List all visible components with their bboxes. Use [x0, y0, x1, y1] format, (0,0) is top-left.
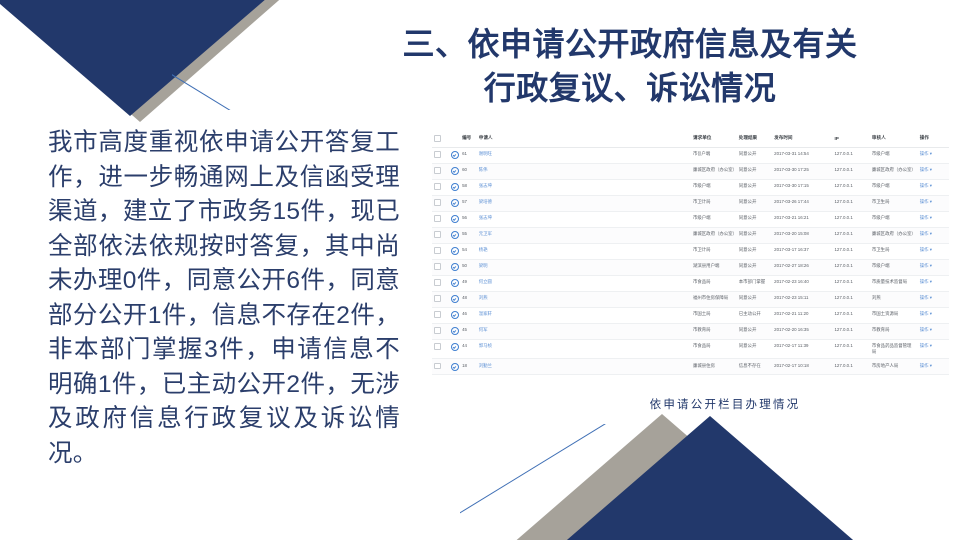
row-checkbox-cell[interactable]: [432, 291, 449, 307]
check-circle-icon: [451, 363, 459, 371]
row-ip: 127.0.0.1: [832, 211, 869, 227]
row-operation[interactable]: 操作 ▾: [918, 291, 949, 307]
row-result: 同意公开: [737, 211, 772, 227]
row-request-unit: 市级户端: [691, 179, 737, 195]
table-row[interactable]: 18刘勤兰廉城县住房信息不存在2017-02-17 10:18127.0.0.1…: [432, 359, 949, 375]
checkbox-icon[interactable]: [434, 135, 441, 142]
bottom-right-accent-line: [460, 424, 630, 534]
header-auditor[interactable]: 审核人: [870, 131, 918, 147]
row-request-unit: 市용户端: [691, 147, 737, 163]
checkbox-icon[interactable]: [434, 247, 441, 254]
row-operation[interactable]: 操作 ▾: [918, 359, 949, 375]
row-operation[interactable]: 操作 ▾: [918, 163, 949, 179]
disclosure-table-body: 61谢明旺市용户端同意公开2017-03-31 14:54127.0.0.1市级…: [432, 147, 949, 375]
row-result: 同意公开: [737, 291, 772, 307]
header-spacer: [525, 131, 691, 147]
row-status-cell: [449, 163, 460, 179]
row-request-unit: 市级户端: [691, 211, 737, 227]
row-applicant[interactable]: 梁培德: [477, 195, 525, 211]
checkbox-icon[interactable]: [434, 279, 441, 286]
row-auditor: 廉城区政府（办公室）: [870, 163, 918, 179]
row-id: 46: [460, 307, 477, 323]
row-result: 已主动公开: [737, 307, 772, 323]
checkbox-icon[interactable]: [434, 343, 441, 350]
row-request-unit: 市食品局: [691, 339, 737, 359]
top-left-gray-band: [0, 0, 286, 122]
row-id: 49: [460, 275, 477, 291]
row-publish-time: 2017-03-30 17:25: [772, 163, 832, 179]
checkbox-icon[interactable]: [434, 199, 441, 206]
row-applicant[interactable]: 元卫军: [477, 227, 525, 243]
row-result: 同意公开: [737, 323, 772, 339]
row-publish-time: 2017-03-17 16:37: [772, 243, 832, 259]
row-status-cell: [449, 259, 460, 275]
row-id: 55: [460, 227, 477, 243]
row-result: 同意公开: [737, 147, 772, 163]
row-applicant[interactable]: 郭马桢: [477, 339, 525, 359]
row-ip: 127.0.0.1: [832, 339, 869, 359]
checkbox-icon[interactable]: [434, 363, 441, 370]
row-spacer: [525, 179, 691, 195]
bottom-right-navy-triangle: [560, 416, 860, 540]
table-row[interactable]: 57梁培德市卫计局同意公开2017-03-26 17:44127.0.0.1市卫…: [432, 195, 949, 211]
row-auditor: 市食品药品监督管理局: [870, 339, 918, 359]
table-row[interactable]: 60陈伟廉城区政府（办公室）同意公开2017-03-30 17:25127.0.…: [432, 163, 949, 179]
check-circle-icon: [451, 199, 459, 207]
table-row[interactable]: 61谢明旺市용户端同意公开2017-03-31 14:54127.0.0.1市级…: [432, 147, 949, 163]
row-operation[interactable]: 操作 ▾: [918, 227, 949, 243]
row-checkbox-cell[interactable]: [432, 211, 449, 227]
row-id: 50: [460, 259, 477, 275]
row-ip: 127.0.0.1: [832, 147, 869, 163]
table-row[interactable]: 56张志坤市级户端同意公开2017-03-21 16:21127.0.0.1市级…: [432, 211, 949, 227]
row-publish-time: 2017-02-23 16:40: [772, 275, 832, 291]
row-request-unit: 市国土局: [691, 307, 737, 323]
row-status-cell: [449, 359, 460, 375]
checkbox-icon[interactable]: [434, 263, 441, 270]
row-ip: 127.0.0.1: [832, 259, 869, 275]
row-applicant[interactable]: 温家轩: [477, 307, 525, 323]
table-row[interactable]: 46温家轩市国土局已主动公开2017-02-21 11:20127.0.0.1市…: [432, 307, 949, 323]
row-publish-time: 2017-03-21 16:21: [772, 211, 832, 227]
row-operation[interactable]: 操作 ▾: [918, 275, 949, 291]
table-row[interactable]: 45何军市教育局同意公开2017-02-20 16:35127.0.0.1市教育…: [432, 323, 949, 339]
table-row[interactable]: 44郭马桢市食品局同意公开2017-02-17 11:39127.0.0.1市食…: [432, 339, 949, 359]
row-request-unit: 市教育局: [691, 323, 737, 339]
row-operation[interactable]: 操作 ▾: [918, 259, 949, 275]
row-status-cell: [449, 243, 460, 259]
row-status-cell: [449, 147, 460, 163]
row-status-cell: [449, 339, 460, 359]
row-checkbox-cell[interactable]: [432, 307, 449, 323]
check-circle-icon: [451, 279, 459, 287]
row-checkbox-cell[interactable]: [432, 179, 449, 195]
row-applicant[interactable]: 何立圆: [477, 275, 525, 291]
header-status: [449, 131, 460, 147]
row-spacer: [525, 227, 691, 243]
check-circle-icon: [451, 231, 459, 239]
header-request-unit[interactable]: 请求单位: [691, 131, 737, 147]
row-publish-time: 2017-02-21 11:20: [772, 307, 832, 323]
row-auditor: 市级户端: [870, 211, 918, 227]
table-row[interactable]: 55元卫军廉城区政府（办公室）同意公开2017-03-20 15:08127.0…: [432, 227, 949, 243]
row-ip: 127.0.0.1: [832, 307, 869, 323]
row-auditor: 市级户端: [870, 179, 918, 195]
row-result: 同意公开: [737, 195, 772, 211]
row-request-unit: 福州市住房保障局: [691, 291, 737, 307]
row-ip: 127.0.0.1: [832, 291, 869, 307]
row-request-unit: 市卫计局: [691, 243, 737, 259]
row-id: 61: [460, 147, 477, 163]
row-result: 同意公开: [737, 163, 772, 179]
row-result: 信息不存在: [737, 359, 772, 375]
row-id: 58: [460, 179, 477, 195]
row-id: 57: [460, 195, 477, 211]
row-status-cell: [449, 275, 460, 291]
slide-title: 三、依申请公开政府信息及有关 行政复议、诉讼情况: [330, 22, 930, 110]
header-applicant[interactable]: 申请人: [477, 131, 525, 147]
row-publish-time: 2017-02-17 10:18: [772, 359, 832, 375]
row-spacer: [525, 291, 691, 307]
row-ip: 127.0.0.1: [832, 179, 869, 195]
row-auditor: 市国土资源局: [870, 307, 918, 323]
row-id: 60: [460, 163, 477, 179]
row-request-unit: 湖滨县用户端: [691, 259, 737, 275]
row-publish-time: 2017-02-20 16:35: [772, 323, 832, 339]
table-row[interactable]: 50梁明湖滨县用户端同意公开2017-02-27 18:26127.0.0.1市…: [432, 259, 949, 275]
row-publish-time: 2017-03-31 14:54: [772, 147, 832, 163]
row-request-unit: 廉城区政府（办公室）: [691, 163, 737, 179]
row-checkbox-cell[interactable]: [432, 323, 449, 339]
row-spacer: [525, 275, 691, 291]
row-ip: 127.0.0.1: [832, 243, 869, 259]
row-auditor: 市房地产人局: [870, 359, 918, 375]
check-circle-icon: [451, 327, 459, 335]
table-row[interactable]: 49何立圆市食品局本市部门掌握2017-02-23 16:40127.0.0.1…: [432, 275, 949, 291]
check-circle-icon: [451, 183, 459, 191]
row-checkbox-cell[interactable]: [432, 147, 449, 163]
check-circle-icon: [451, 343, 459, 351]
row-applicant[interactable]: 杨艳: [477, 243, 525, 259]
row-operation[interactable]: 操作 ▾: [918, 307, 949, 323]
slide-body-text: 我市高度重视依申请公开答复工作，进一步畅通网上及信函受理渠道，建立了市政务15件…: [48, 126, 400, 471]
check-circle-icon: [451, 263, 459, 271]
checkbox-icon[interactable]: [434, 327, 441, 334]
row-ip: 127.0.0.1: [832, 275, 869, 291]
checkbox-icon[interactable]: [434, 167, 441, 174]
check-circle-icon: [451, 295, 459, 303]
checkbox-icon[interactable]: [434, 151, 441, 158]
row-result: 同意公开: [737, 179, 772, 195]
header-select-all[interactable]: [432, 131, 449, 147]
row-spacer: [525, 359, 691, 375]
row-spacer: [525, 211, 691, 227]
row-operation[interactable]: 操作 ▾: [918, 179, 949, 195]
table-row[interactable]: 58张志坤市级户端同意公开2017-03-30 17:15127.0.0.1市级…: [432, 179, 949, 195]
header-id[interactable]: 编号: [460, 131, 477, 147]
row-checkbox-cell[interactable]: [432, 275, 449, 291]
row-publish-time: 2017-03-26 17:44: [772, 195, 832, 211]
row-request-unit: 市食品局: [691, 275, 737, 291]
row-status-cell: [449, 195, 460, 211]
row-id: 54: [460, 243, 477, 259]
row-checkbox-cell[interactable]: [432, 163, 449, 179]
row-publish-time: 2017-03-20 15:08: [772, 227, 832, 243]
row-checkbox-cell[interactable]: [432, 195, 449, 211]
checkbox-icon[interactable]: [434, 183, 441, 190]
row-checkbox-cell[interactable]: [432, 243, 449, 259]
row-spacer: [525, 195, 691, 211]
row-publish-time: 2017-02-27 18:26: [772, 259, 832, 275]
row-applicant[interactable]: 谢明旺: [477, 147, 525, 163]
row-operation[interactable]: 操作 ▾: [918, 339, 949, 359]
row-result: 本市部门掌握: [737, 275, 772, 291]
row-id: 48: [460, 291, 477, 307]
row-status-cell: [449, 323, 460, 339]
row-applicant[interactable]: 张志坤: [477, 179, 525, 195]
checkbox-icon[interactable]: [434, 215, 441, 222]
top-left-accent-line: [172, 14, 332, 110]
row-id: 56: [460, 211, 477, 227]
row-operation[interactable]: 操作 ▾: [918, 243, 949, 259]
table-row[interactable]: 54杨艳市卫计局同意公开2017-03-17 16:37127.0.0.1市卫生…: [432, 243, 949, 259]
header-ip[interactable]: IP: [832, 131, 869, 147]
row-checkbox-cell[interactable]: [432, 359, 449, 375]
table-row[interactable]: 48刘燕福州市住房保障局同意公开2017-02-23 15:11127.0.0.…: [432, 291, 949, 307]
row-auditor: 刘燕: [870, 291, 918, 307]
checkbox-icon[interactable]: [434, 231, 441, 238]
row-id: 45: [460, 323, 477, 339]
row-ip: 127.0.0.1: [832, 227, 869, 243]
row-spacer: [525, 307, 691, 323]
check-circle-icon: [451, 247, 459, 255]
checkbox-icon[interactable]: [434, 311, 441, 318]
check-circle-icon: [451, 167, 459, 175]
check-circle-icon: [451, 151, 459, 159]
disclosure-table: 编号 申请人 请求单位 处理结果 发布时间 IP 审核人 操作 61谢明旺市용户…: [432, 131, 949, 375]
row-status-cell: [449, 211, 460, 227]
row-ip: 127.0.0.1: [832, 195, 869, 211]
row-spacer: [525, 147, 691, 163]
row-spacer: [525, 323, 691, 339]
row-auditor: 市教育局: [870, 323, 918, 339]
row-status-cell: [449, 307, 460, 323]
row-publish-time: 2017-02-17 11:39: [772, 339, 832, 359]
row-operation[interactable]: 操作 ▾: [918, 195, 949, 211]
row-applicant[interactable]: 张志坤: [477, 211, 525, 227]
table-header-row: 编号 申请人 请求单位 处理结果 发布时间 IP 审核人 操作: [432, 131, 949, 147]
row-applicant[interactable]: 刘勤兰: [477, 359, 525, 375]
row-applicant[interactable]: 何军: [477, 323, 525, 339]
row-status-cell: [449, 291, 460, 307]
row-result: 同意公开: [737, 227, 772, 243]
row-spacer: [525, 339, 691, 359]
row-auditor: 市卫生局: [870, 195, 918, 211]
row-id: 18: [460, 359, 477, 375]
row-auditor: 市级户端: [870, 147, 918, 163]
row-result: 同意公开: [737, 339, 772, 359]
check-circle-icon: [451, 311, 459, 319]
row-result: 同意公开: [737, 259, 772, 275]
row-status-cell: [449, 227, 460, 243]
row-applicant[interactable]: 刘燕: [477, 291, 525, 307]
row-checkbox-cell[interactable]: [432, 339, 449, 359]
top-left-navy-triangle: [0, 0, 274, 116]
row-ip: 127.0.0.1: [832, 359, 869, 375]
row-ip: 127.0.0.1: [832, 163, 869, 179]
row-publish-time: 2017-02-23 15:11: [772, 291, 832, 307]
row-spacer: [525, 259, 691, 275]
row-spacer: [525, 163, 691, 179]
embedded-screenshot: 编号 申请人 请求单位 处理结果 发布时间 IP 审核人 操作 61谢明旺市용户…: [432, 131, 949, 390]
row-operation[interactable]: 操作 ▾: [918, 323, 949, 339]
row-id: 44: [460, 339, 477, 359]
row-request-unit: 市卫计局: [691, 195, 737, 211]
row-auditor: 市质量技术监督局: [870, 275, 918, 291]
presentation-slide: 三、依申请公开政府信息及有关 行政复议、诉讼情况 我市高度重视依申请公开答复工作…: [0, 0, 960, 540]
header-publish-time[interactable]: 发布时间: [772, 131, 832, 147]
row-checkbox-cell[interactable]: [432, 259, 449, 275]
row-status-cell: [449, 179, 460, 195]
row-auditor: 市级户端: [870, 259, 918, 275]
bottom-right-gray-band: [512, 414, 812, 540]
row-request-unit: 廉城县住房: [691, 359, 737, 375]
screenshot-caption: 依申请公开栏目办理情况: [600, 396, 850, 412]
row-publish-time: 2017-03-30 17:15: [772, 179, 832, 195]
row-applicant[interactable]: 梁明: [477, 259, 525, 275]
row-auditor: 市卫生局: [870, 243, 918, 259]
row-ip: 127.0.0.1: [832, 323, 869, 339]
row-applicant[interactable]: 陈伟: [477, 163, 525, 179]
row-request-unit: 廉城区政府（办公室）: [691, 227, 737, 243]
header-result[interactable]: 处理结果: [737, 131, 772, 147]
header-operation[interactable]: 操作: [918, 131, 949, 147]
row-result: 同意公开: [737, 243, 772, 259]
row-auditor: 廉城区政府（办公室）: [870, 227, 918, 243]
row-operation[interactable]: 操作 ▾: [918, 211, 949, 227]
row-checkbox-cell[interactable]: [432, 227, 449, 243]
row-spacer: [525, 243, 691, 259]
checkbox-icon[interactable]: [434, 295, 441, 302]
row-operation[interactable]: 操作 ▾: [918, 147, 949, 163]
check-circle-icon: [451, 215, 459, 223]
